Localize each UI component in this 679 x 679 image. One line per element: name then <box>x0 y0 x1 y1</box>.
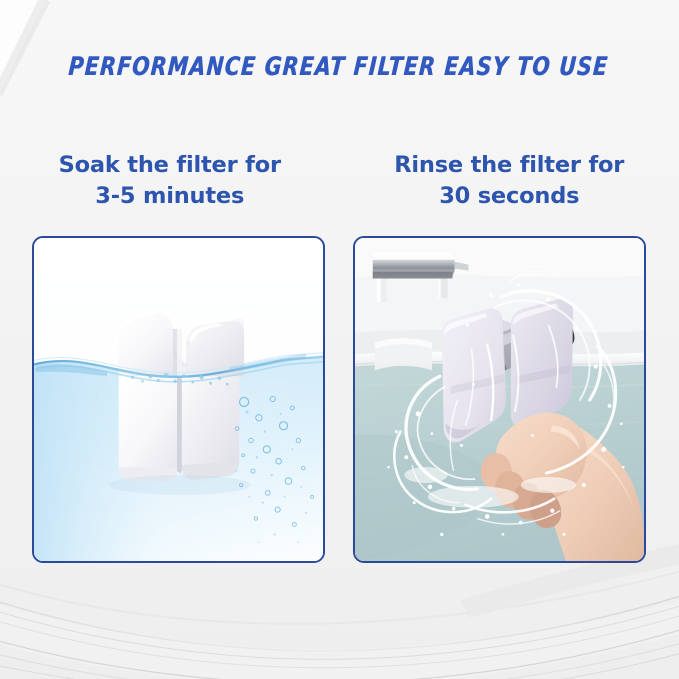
step-headings: Soak the filter for 3-5 minutes Rinse th… <box>0 150 679 222</box>
filter-soaking-illustration <box>34 238 323 561</box>
step-1-image-panel <box>32 236 325 563</box>
page-title: PERFORMANCE GREAT FILTER EASY TO USE <box>68 52 610 82</box>
banner: PERFORMANCE GREAT FILTER EASY TO USE <box>0 50 679 84</box>
step-2-heading: Rinse the filter for 30 seconds <box>340 150 679 222</box>
step-2-image-panel <box>353 236 646 563</box>
filter-rinsing-illustration <box>355 238 644 561</box>
step-2-heading-line-2: 30 seconds <box>340 181 679 212</box>
step-1-heading: Soak the filter for 3-5 minutes <box>0 150 340 222</box>
step-1-heading-line-1: Soak the filter for <box>0 150 340 181</box>
step-2-heading-line-1: Rinse the filter for <box>340 150 679 181</box>
step-1-heading-line-2: 3-5 minutes <box>0 181 340 212</box>
step-panels <box>32 236 646 563</box>
